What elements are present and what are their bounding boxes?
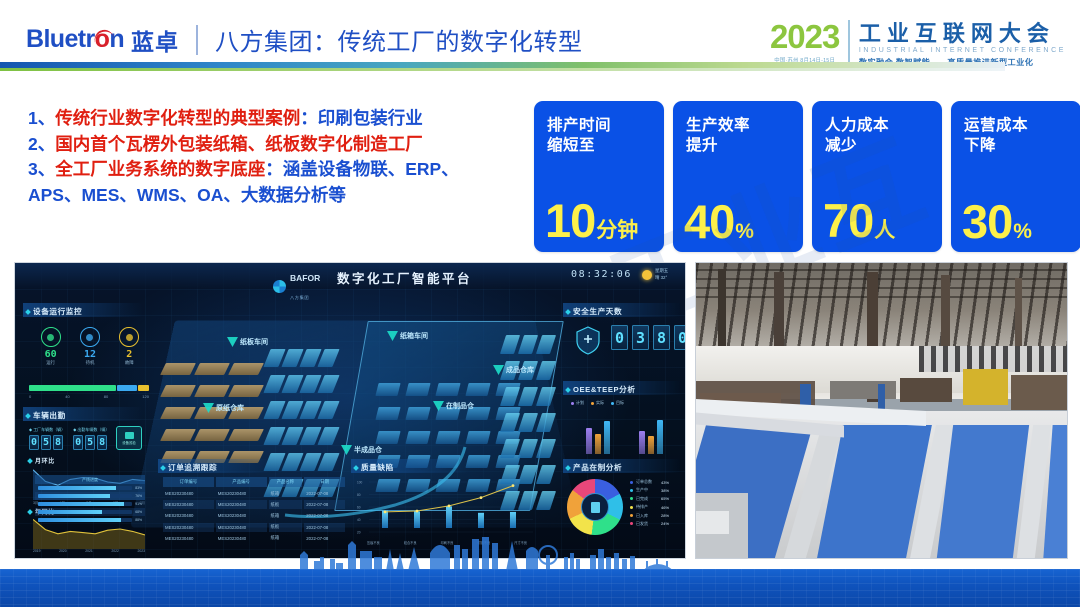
progress-segment <box>29 385 116 391</box>
table-cell: MES20230480 <box>163 500 214 509</box>
conference-name-en: INDUSTRIAL INTERNET CONFERENCE <box>859 47 1066 54</box>
wip-legend-item: 订单总数43% <box>630 479 669 485</box>
sun-icon <box>642 270 652 280</box>
table-cell: 纸板 <box>269 500 303 509</box>
progress-list: 产线进度83%76%91%68%88% <box>35 475 145 524</box>
quality-bar <box>478 513 484 528</box>
kpi-number: 70 <box>823 199 873 243</box>
wip-legend: 订单总数43%生产中38%已完成65%待排产46%已入库28%已发货24% <box>630 479 669 529</box>
svg-text:60: 60 <box>357 505 361 509</box>
dashboard-logo-subtext: 八方集团 <box>290 295 309 300</box>
bullet-item-3: 3、全工厂业务系统的数字底座：涵盖设备物联、ERP、 <box>28 157 528 183</box>
yearly-chart-xaxis: 20192020202120222023 <box>33 549 145 553</box>
bullet-item-4: APS、MES、WMS、OA、大数据分析等 <box>28 183 528 209</box>
map-pin-icon <box>433 401 444 411</box>
page-title: 八方集团：传统工厂的数字化转型 <box>215 22 583 57</box>
logo-o-glyph: o <box>95 25 110 54</box>
equipment-axis-labels: 04080120 <box>29 394 149 399</box>
safety-digit: 8 <box>653 325 670 350</box>
dashboard-title: 数字化工厂智能平台 <box>337 268 472 287</box>
table-cell: 纸箱 <box>269 489 303 498</box>
bullet-item-2: 2、国内首个瓦楞外包装纸箱、纸板数字化制造工厂 <box>28 132 528 158</box>
vehicle-counter-group: ◆ 工厂车辆数（辆）058◆ 出勤车辆数（辆）058 <box>29 427 109 450</box>
shield-icon <box>571 323 605 357</box>
oee-bar-chart <box>571 410 677 454</box>
slide-root: Bluetron 蓝卓 八方集团：传统工厂的数字化转型 2023 中国·苏州 8… <box>0 0 1080 607</box>
oee-bar <box>648 436 654 454</box>
wip-panel-title: 产品在制分析 <box>566 462 622 473</box>
oee-legend-item: 目标 <box>611 400 624 406</box>
equipment-stat: 12待机 <box>80 327 100 366</box>
dashboard-logo-icon <box>273 280 286 293</box>
quality-bar <box>510 512 516 528</box>
kpi-card-1: 排产时间缩短至10分钟 <box>534 101 664 252</box>
counter-digit: 5 <box>41 435 51 450</box>
axis-tick: 2021 <box>85 549 93 553</box>
progress-row: 83% <box>35 484 145 492</box>
wip-legend-item: 已入库28% <box>630 513 669 519</box>
svg-text:100: 100 <box>357 480 363 484</box>
table-cell: 纸箱 <box>269 511 303 520</box>
map-pin-icon <box>493 365 504 375</box>
table-column-header: 日期 <box>304 477 345 487</box>
oee-legend: 计划实际目标 <box>571 400 624 408</box>
svg-text:80: 80 <box>357 493 361 497</box>
kpi-number: 10 <box>545 199 595 243</box>
map-pin-icon <box>227 337 238 347</box>
kpi-card-2: 生产效率提升40% <box>673 101 803 252</box>
brand-name-en: Bluetron <box>26 25 124 54</box>
quality-bar <box>446 506 452 528</box>
table-cell: MES20230480 <box>216 511 267 520</box>
table-row[interactable]: MES20230480MES20230480纸箱2022-07-08 <box>163 511 345 520</box>
weather-line-1: 星期五 <box>655 268 668 273</box>
conference-year: 2023 <box>770 20 839 53</box>
counter-digit: 8 <box>97 435 107 450</box>
progress-segment <box>138 385 149 391</box>
map-label-2[interactable]: 纸箱车间 <box>387 331 428 341</box>
kpi-value: 10分钟 <box>545 199 638 244</box>
monitor-icon <box>125 432 134 439</box>
table-cell: MES20230480 <box>216 500 267 509</box>
oee-legend-item: 计划 <box>571 400 584 406</box>
bullet-item-1: 1、传统行业数字化转型的典型案例：印刷包装行业 <box>28 106 528 132</box>
table-cell: MES20230480 <box>163 534 214 543</box>
map-pin-icon <box>341 445 352 455</box>
map-pin-icon <box>203 403 214 413</box>
wip-legend-item: 待排产46% <box>630 504 669 510</box>
bullet-list: 1、传统行业数字化转型的典型案例：印刷包装行业2、国内首个瓦楞外包装纸箱、纸板数… <box>28 106 528 209</box>
wip-legend-item: 生产中38% <box>630 487 669 493</box>
company-logo: Bluetron 蓝卓 八方集团：传统工厂的数字化转型 <box>26 22 582 57</box>
oee-bar-group <box>639 410 663 454</box>
progress-row: 68% <box>35 508 145 516</box>
kpi-value: 70人 <box>823 199 895 244</box>
kpi-label: 生产效率提升 <box>686 116 750 157</box>
equipment-stat: 2故障 <box>119 327 139 366</box>
dashboard-logo: BAFOR 八方集团 <box>273 268 320 304</box>
counter-digit: 5 <box>85 435 95 450</box>
table-cell: 2022-07-08 <box>304 500 345 509</box>
safety-days-counter: 0380 <box>611 325 686 350</box>
weather-line-2: 晴 32° <box>655 275 667 280</box>
counter-caption: ◆ 出勤车辆数（辆） <box>73 427 109 433</box>
table-column-header: 产品编号 <box>216 477 267 487</box>
table-cell: MES20230480 <box>216 523 267 532</box>
factory-photo <box>695 262 1068 559</box>
vehicle-counter: ◆ 工厂车辆数（辆）058 <box>29 427 65 450</box>
equipment-stat: 60运行 <box>41 327 61 366</box>
dashboard-screenshot: BAFOR 八方集团 数字化工厂智能平台 08:32:06 星期五 晴 32° … <box>14 262 686 559</box>
axis-tick: 80 <box>104 394 108 399</box>
quality-panel-title: 质量缺陷 <box>354 462 394 473</box>
kpi-unit: % <box>1013 220 1032 244</box>
table-cell: MES20230480 <box>163 489 214 498</box>
axis-tick: 2023 <box>137 549 145 553</box>
dashboard-clock: 08:32:06 <box>571 269 632 280</box>
counter-digit: 0 <box>29 435 39 450</box>
document-icon <box>591 502 600 513</box>
oee-bar <box>586 428 592 454</box>
counter-digit: 8 <box>53 435 63 450</box>
conference-logo: 2023 中国·苏州 8月14日-15日 工业互联网大会 INDUSTRIAL … <box>770 20 1066 68</box>
conference-divider <box>848 20 850 68</box>
oee-panel-title: OEE&TEEP分析 <box>566 384 636 395</box>
kpi-unit: % <box>735 220 754 244</box>
table-row[interactable]: MES20230480MES20230480纸箱2022-07-08 <box>163 489 345 498</box>
vehicle-panel-title: 车辆出勤 <box>26 410 66 421</box>
equipment-stat-group: 60运行12待机2故障 <box>31 327 149 366</box>
axis-tick: 2019 <box>33 549 41 553</box>
safety-digit: 3 <box>632 325 649 350</box>
table-cell: MES20230480 <box>216 534 267 543</box>
brand-name-cn: 蓝卓 <box>131 23 179 57</box>
kpi-label: 排产时间缩短至 <box>547 116 611 157</box>
conference-name-cn: 工业互联网大会 <box>859 22 1066 45</box>
map-label-4[interactable]: 成品仓库 <box>493 365 534 375</box>
axis-tick: 0 <box>29 394 31 399</box>
wip-donut-chart <box>567 479 623 535</box>
counter-digit: 0 <box>73 435 83 450</box>
table-column-header: 产品名称 <box>269 477 303 487</box>
oee-bar-group <box>586 410 610 454</box>
safety-digit: 0 <box>611 325 628 350</box>
table-header-row: 订单编号产品编号产品名称日期 <box>163 477 345 487</box>
kpi-number: 40 <box>684 200 734 244</box>
wip-legend-item: 已完成65% <box>630 496 669 502</box>
kpi-unit: 人 <box>874 214 895 244</box>
map-label-6[interactable]: 半成品仓 <box>341 445 382 455</box>
oee-bar <box>604 421 610 454</box>
table-cell: MES20230480 <box>163 511 214 520</box>
counter-caption: ◆ 工厂车辆数（辆） <box>29 427 65 433</box>
equipment-progress-bar <box>29 385 149 391</box>
table-cell: MES20230480 <box>163 523 214 532</box>
header-rule-secondary <box>0 68 1005 71</box>
table-column-header: 订单编号 <box>163 477 214 487</box>
axis-tick: 40 <box>65 394 69 399</box>
map-label-3[interactable]: 原纸仓库 <box>203 403 244 413</box>
safety-digit: 0 <box>674 325 686 350</box>
kpi-card-3: 人力成本减少70人 <box>812 101 942 252</box>
orders-panel-title: 订单追溯跟踪 <box>161 462 217 473</box>
kpi-value: 30% <box>962 200 1032 244</box>
axis-tick: 2020 <box>59 549 67 553</box>
brand-divider <box>196 25 198 55</box>
progress-list-header: 产线进度 <box>35 475 145 484</box>
kpi-card-group: 排产时间缩短至10分钟生产效率提升40%人力成本减少70人运营成本下降30% <box>534 101 1080 252</box>
city-skyline-decoration <box>290 531 790 571</box>
progress-row: 91% <box>35 500 145 508</box>
equipment-panel-title: 设备运行监控 <box>26 306 82 317</box>
table-cell: 2022-07-08 <box>304 489 345 498</box>
table-cell: MES20230480 <box>216 489 267 498</box>
oee-bar <box>639 431 645 454</box>
wip-legend-item: 已发货24% <box>630 521 669 527</box>
progress-row: 76% <box>35 492 145 500</box>
progress-segment <box>117 385 137 391</box>
kpi-label: 人力成本减少 <box>825 116 889 157</box>
kpi-number: 30 <box>962 200 1012 244</box>
oee-legend-item: 实际 <box>591 400 604 406</box>
slide-header: Bluetron 蓝卓 八方集团：传统工厂的数字化转型 2023 中国·苏州 8… <box>0 0 1080 76</box>
map-label-1[interactable]: 纸板车间 <box>227 337 268 347</box>
svg-text:40: 40 <box>357 518 361 522</box>
table-row[interactable]: MES20230480MES20230480纸板2022-07-08 <box>163 500 345 509</box>
bottom-blue-band <box>0 569 1080 607</box>
dashboard-weather: 星期五 晴 32° <box>642 268 668 281</box>
safety-panel-title: 安全生产天数 <box>566 306 622 317</box>
map-label-5[interactable]: 在制品仓 <box>433 401 474 411</box>
kpi-label: 运营成本下降 <box>964 116 1028 157</box>
map-pin-icon <box>387 331 398 341</box>
vehicle-counter: ◆ 出勤车辆数（辆）058 <box>73 427 109 450</box>
inspection-badge-label: 设备巡检 <box>122 440 136 445</box>
progress-row: 88% <box>35 516 145 524</box>
oee-bar <box>595 434 601 454</box>
inspection-badge[interactable]: 设备巡检 <box>116 426 142 450</box>
dashboard-logo-text: BAFOR <box>290 273 320 283</box>
kpi-card-4: 运营成本下降30% <box>951 101 1080 252</box>
axis-tick: 2022 <box>111 549 119 553</box>
table-cell: 2022-07-08 <box>304 511 345 520</box>
oee-bar <box>657 420 663 454</box>
axis-tick: 120 <box>142 394 149 399</box>
quality-bar <box>414 511 420 528</box>
kpi-value: 40% <box>684 200 754 244</box>
kpi-unit: 分钟 <box>596 214 638 244</box>
